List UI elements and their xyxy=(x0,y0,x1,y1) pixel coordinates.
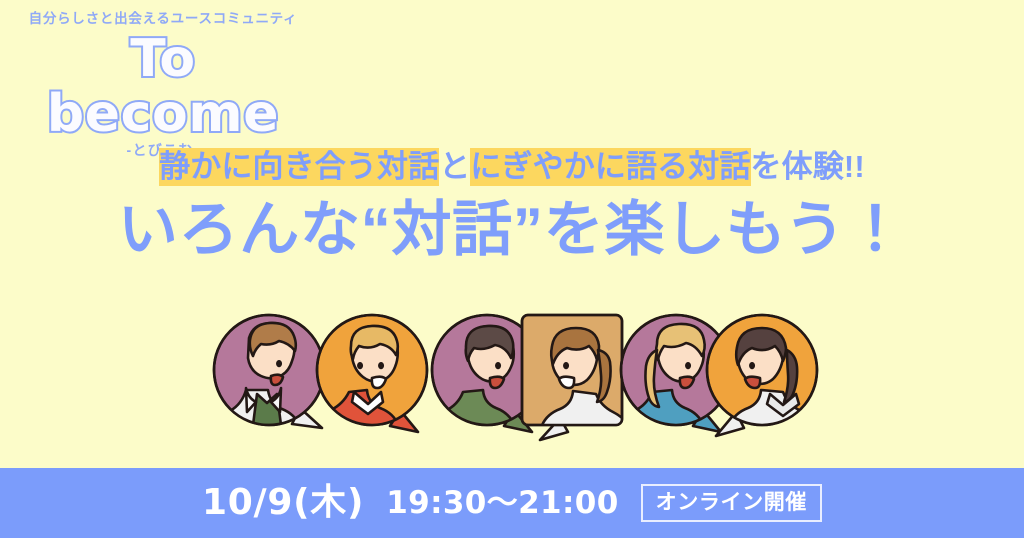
figure-4-ponytail-woman-white-top xyxy=(522,315,632,447)
brand-logo-block: 自分らしさと出会えるユースコミュニティ To become -とびこむ- xyxy=(18,12,308,158)
headline-subtitle-segment-1: と xyxy=(439,149,470,184)
brand-wordmark: To become xyxy=(18,32,308,142)
figure-6-woman-white-collar-shirt xyxy=(707,315,820,446)
headline-subtitle: 静かに向き合う対話とにぎやかに語る対話を体験!! xyxy=(0,148,1024,186)
event-footer-bar: 10/9(木) 19:30〜21:00 オンライン開催 xyxy=(0,468,1024,538)
headline-subtitle-segment-2: にぎやかに語る対話 xyxy=(470,148,750,186)
headline-subtitle-segment-0: 静かに向き合う対話 xyxy=(159,148,439,186)
brand-tagline: 自分らしさと出会えるユースコミュニティ xyxy=(18,12,308,27)
conversation-illustration xyxy=(0,300,1024,460)
headline-main: いろんな“対話”を楽しもう！ xyxy=(0,192,1024,267)
headline-subtitle-segment-3: を体験!! xyxy=(751,149,865,184)
figure-2-blond-man-red-sweater xyxy=(312,315,427,446)
event-time: 19:30〜21:00 xyxy=(386,488,618,519)
event-format-badge: オンライン開催 xyxy=(641,484,822,522)
event-banner: 自分らしさと出会えるユースコミュニティ To become -とびこむ- 静かに… xyxy=(0,0,1024,538)
figure-1-young-man-white-shirt xyxy=(212,315,324,447)
event-date: 10/9(木) xyxy=(202,485,364,521)
headline-group: 静かに向き合う対話とにぎやかに語る対話を体験!! いろんな“対話”を楽しもう！ xyxy=(0,148,1024,267)
